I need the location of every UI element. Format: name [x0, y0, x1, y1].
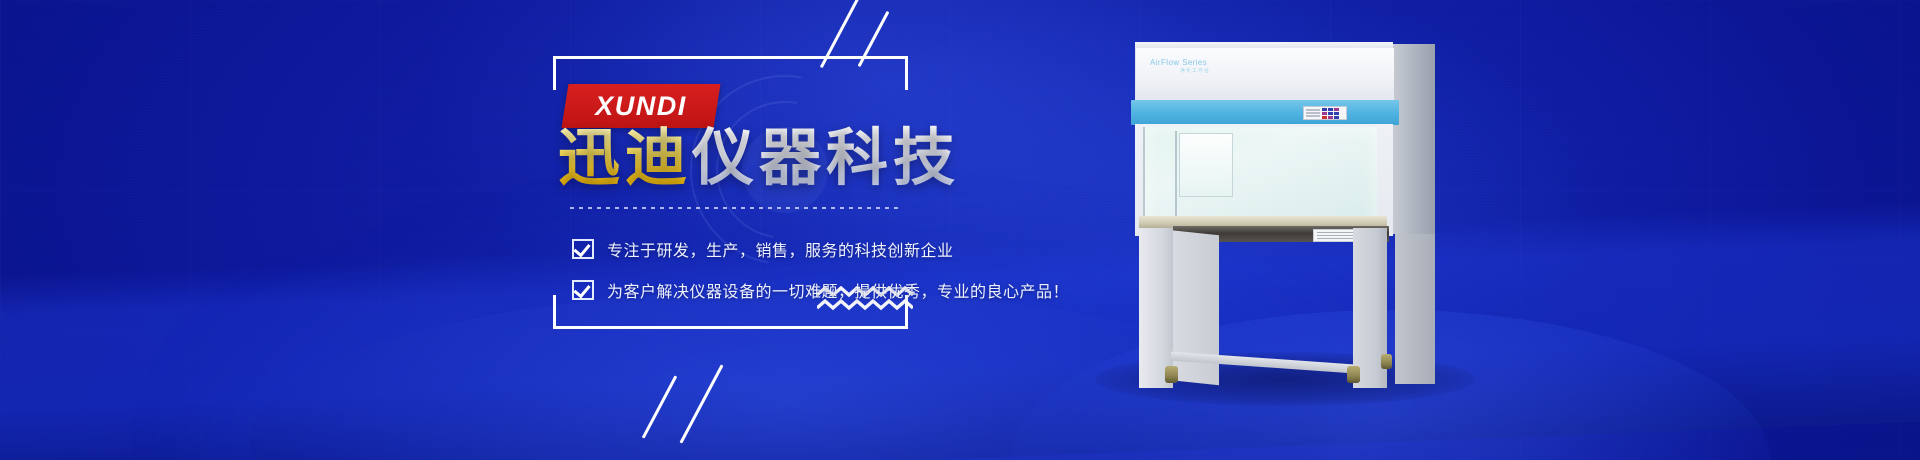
product-glass-sash	[1143, 127, 1377, 229]
product-brand-text: AirFlow Series	[1150, 58, 1207, 67]
product-side-leg	[1395, 234, 1435, 384]
product-subbrand-text: 净化工作台	[1180, 67, 1210, 74]
page-title-secondary: 仪器科技	[692, 121, 960, 194]
list-item: 为客户解决仪器设备的一切难题，提供优秀，专业的良心产品！	[572, 278, 1069, 302]
page-title: 迅迪仪器科技	[558, 127, 960, 189]
frame-edge-top	[553, 56, 908, 59]
control-panel-labels	[1306, 109, 1320, 118]
product-blue-band	[1131, 100, 1399, 125]
product-spec-label	[1313, 229, 1357, 242]
product-caster	[1165, 366, 1178, 383]
product-head-housing: AirFlow Series 净化工作台	[1135, 48, 1394, 100]
frame-edge-right-top	[905, 56, 908, 90]
list-item: 专注于研发，生产，销售，服务的科技创新企业	[572, 237, 1069, 261]
page-title-primary: 迅迪	[558, 121, 692, 194]
product-control-panel	[1303, 106, 1347, 120]
hero-banner: XUNDI 迅迪仪器科技 专注于研发，生产，销售，服务的科技创新企业 为客户解决…	[0, 0, 1920, 460]
control-panel-leds	[1322, 108, 1344, 119]
product-brand-label: AirFlow Series 净化工作台	[1150, 58, 1210, 74]
feature-bullet-list: 专注于研发，生产，销售，服务的科技创新企业 为客户解决仪器设备的一切难题，提供优…	[572, 237, 1069, 319]
dotted-divider	[570, 207, 900, 209]
check-icon	[572, 280, 594, 300]
product-glass-reflection	[1179, 133, 1233, 197]
product-image-laminar-flow-clean-bench: AirFlow Series 净化工作台	[1135, 28, 1435, 388]
list-item-label: 专注于研发，生产，销售，服务的科技创新企业	[607, 237, 954, 261]
product-side-panel	[1391, 44, 1435, 234]
product-caster	[1381, 354, 1392, 369]
product-caster	[1347, 366, 1360, 383]
frame-edge-bottom	[553, 326, 908, 329]
list-item-label: 为客户解决仪器设备的一切难题，提供优秀，专业的良心产品！	[607, 278, 1069, 302]
check-icon	[572, 239, 594, 259]
frame-edge-left-top	[553, 56, 556, 90]
frame-edge-left-bottom	[553, 295, 556, 329]
product-left-leg	[1139, 228, 1173, 388]
